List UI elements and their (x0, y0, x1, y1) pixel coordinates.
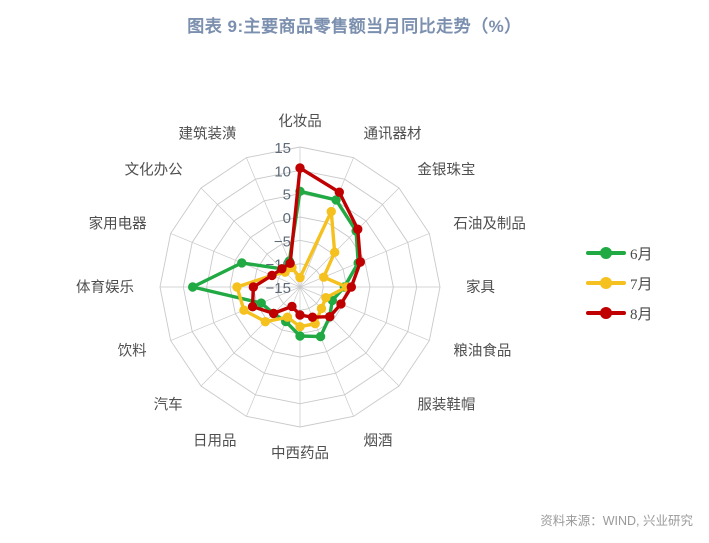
chart-page: 图表 9:主要商品零售额当月同比走势（%） 化妆品通讯器材金银珠宝石油及制品家具… (0, 0, 709, 543)
data-point (308, 313, 316, 321)
legend: 6月 7月 8月 (586, 238, 696, 328)
data-point (330, 248, 338, 256)
data-point (257, 299, 265, 307)
legend-item-june[interactable]: 6月 (586, 238, 696, 268)
radial-tick-6: −15 (266, 280, 291, 297)
category-label-0: 化妆品 (278, 113, 322, 130)
category-label-5: 粮油食品 (453, 343, 511, 360)
data-point (269, 309, 277, 317)
data-point (261, 317, 269, 325)
category-label-8: 中西药品 (271, 445, 329, 462)
category-label-9: 日用品 (193, 432, 237, 449)
legend-item-july[interactable]: 7月 (586, 268, 696, 298)
category-label-1: 通讯器材 (364, 126, 422, 143)
data-point (356, 258, 364, 266)
category-label-15: 建筑装潢 (179, 126, 237, 143)
data-point (188, 283, 196, 291)
data-point (248, 302, 256, 310)
radar-chart: 化妆品通讯器材金银珠宝石油及制品家具粮油食品服装鞋帽烟酒中西药品日用品汽车饮料体… (0, 60, 570, 480)
data-point (296, 273, 304, 281)
radial-tick-4: −5 (274, 233, 291, 250)
data-point (238, 259, 246, 267)
legend-swatch-august (586, 306, 626, 320)
category-label-2: 金银珠宝 (417, 162, 475, 179)
data-point (335, 188, 343, 196)
category-label-11: 饮料 (118, 343, 147, 360)
data-point (296, 322, 304, 330)
data-point (316, 332, 324, 340)
data-point (296, 311, 304, 319)
data-point (326, 313, 334, 321)
data-point (278, 265, 286, 273)
category-label-14: 文化办公 (125, 162, 183, 179)
data-point (268, 271, 276, 279)
category-label-10: 汽车 (154, 396, 183, 413)
data-point (283, 313, 291, 321)
legend-item-august[interactable]: 8月 (586, 298, 696, 328)
category-label-12: 体育娱乐 (76, 279, 134, 296)
data-point (337, 300, 345, 308)
data-point (233, 283, 241, 291)
data-point (286, 259, 294, 267)
data-point (354, 225, 362, 233)
legend-label-august: 8月 (630, 303, 653, 324)
grid-spoke (300, 287, 354, 416)
radial-tick-2: 5 (283, 187, 291, 204)
data-point (288, 302, 296, 310)
legend-swatch-june (586, 246, 626, 260)
data-point (347, 283, 355, 291)
radial-tick-3: 0 (283, 210, 291, 227)
data-point (332, 196, 340, 204)
data-point (320, 273, 328, 281)
data-point (240, 306, 248, 314)
grid-spoke (300, 188, 399, 287)
data-point (249, 283, 257, 291)
radar-plot-svg: 化妆品通讯器材金银珠宝石油及制品家具粮油食品服装鞋帽烟酒中西药品日用品汽车饮料体… (0, 60, 570, 480)
radial-tick-1: 10 (274, 163, 291, 180)
data-point (296, 332, 304, 340)
data-point (322, 294, 330, 302)
data-point (296, 164, 304, 172)
data-point (327, 207, 335, 215)
legend-label-july: 7月 (630, 273, 653, 294)
page-title: 图表 9:主要商品零售额当月同比走势（%） (0, 12, 709, 37)
category-label-4: 家具 (466, 279, 495, 296)
source-note: 资料来源：WIND, 兴业研究 (540, 510, 693, 529)
legend-label-june: 6月 (630, 243, 653, 264)
category-label-6: 服装鞋帽 (417, 396, 475, 413)
legend-swatch-july (586, 276, 626, 290)
category-label-13: 家用电器 (89, 216, 147, 233)
category-label-3: 石油及制品 (453, 216, 526, 233)
radial-tick-0: 15 (274, 140, 291, 157)
series-8月 (248, 164, 364, 322)
data-point (317, 304, 325, 312)
category-label-7: 烟酒 (364, 432, 393, 449)
